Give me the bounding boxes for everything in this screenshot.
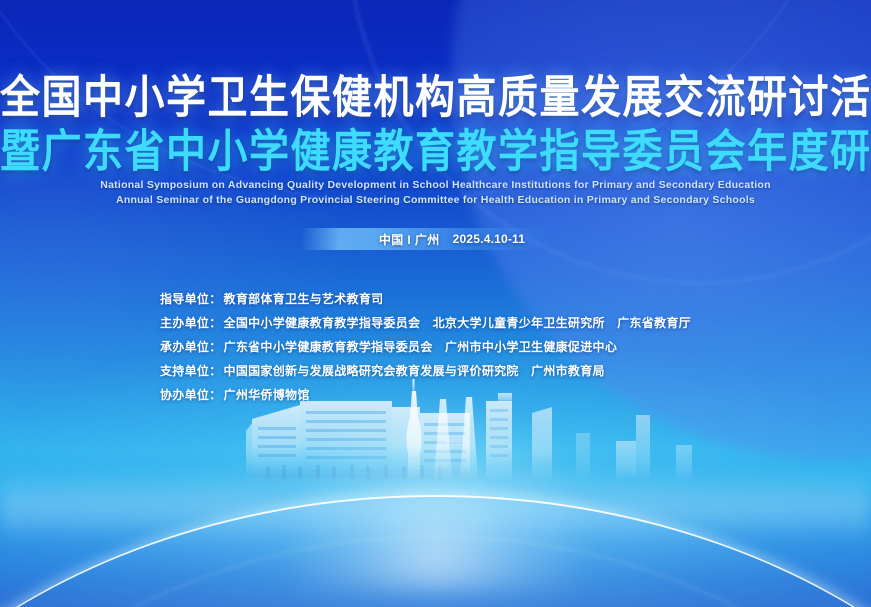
organization-label: 指导单位： [160,290,222,307]
organization-label: 承办单位： [160,338,222,355]
title-line-secondary: 暨广东省中小学健康教育教学指导委员会年度研讨活动 [0,125,871,179]
organization-value: 全国中小学健康教育教学指导委员会 北京大学儿童青少年卫生研究所 广东省教育厅 [224,314,691,331]
organization-label: 协办单位： [160,386,222,403]
poster-subtitle-english: National Symposium on Advancing Quality … [0,178,871,208]
organization-value: 中国国家创新与发展战略研究会教育发展与评价研究院 广州市教育局 [224,362,605,379]
poster-title: 全国中小学卫生保健机构高质量发展交流研讨活动 暨广东省中小学健康教育教学指导委员… [0,74,871,176]
subtitle-en-line-1: National Symposium on Advancing Quality … [0,178,871,193]
badge-location: 中国 I 广州 [379,231,440,248]
organization-value: 教育部体育卫生与艺术教育司 [224,290,384,307]
organization-row: 承办单位： 广东省中小学健康教育教学指导委员会 广州市中小学卫生健康促进中心 [160,338,691,362]
organization-label: 支持单位： [160,362,222,379]
organization-list: 指导单位： 教育部体育卫生与艺术教育司 主办单位： 全国中小学健康教育教学指导委… [160,290,691,410]
organization-row: 支持单位： 中国国家创新与发展战略研究会教育发展与评价研究院 广州市教育局 [160,362,691,386]
organization-label: 主办单位： [160,314,222,331]
conference-poster: 全国中小学卫生保健机构高质量发展交流研讨活动 暨广东省中小学健康教育教学指导委员… [0,0,871,607]
subtitle-en-line-2: Annual Seminar of the Guangdong Provinci… [0,193,871,208]
organization-row: 指导单位： 教育部体育卫生与艺术教育司 [160,290,691,314]
organization-value: 广东省中小学健康教育教学指导委员会 广州市中小学卫生健康促进中心 [224,338,618,355]
title-line-primary: 全国中小学卫生保健机构高质量发展交流研讨活动 [0,71,871,125]
badge-date: 2025.4.10-11 [453,232,525,246]
event-badge: 中国 I 广州 2025.4.10-11 [303,228,565,250]
organization-row: 主办单位： 全国中小学健康教育教学指导委员会 北京大学儿童青少年卫生研究所 广东… [160,314,691,338]
